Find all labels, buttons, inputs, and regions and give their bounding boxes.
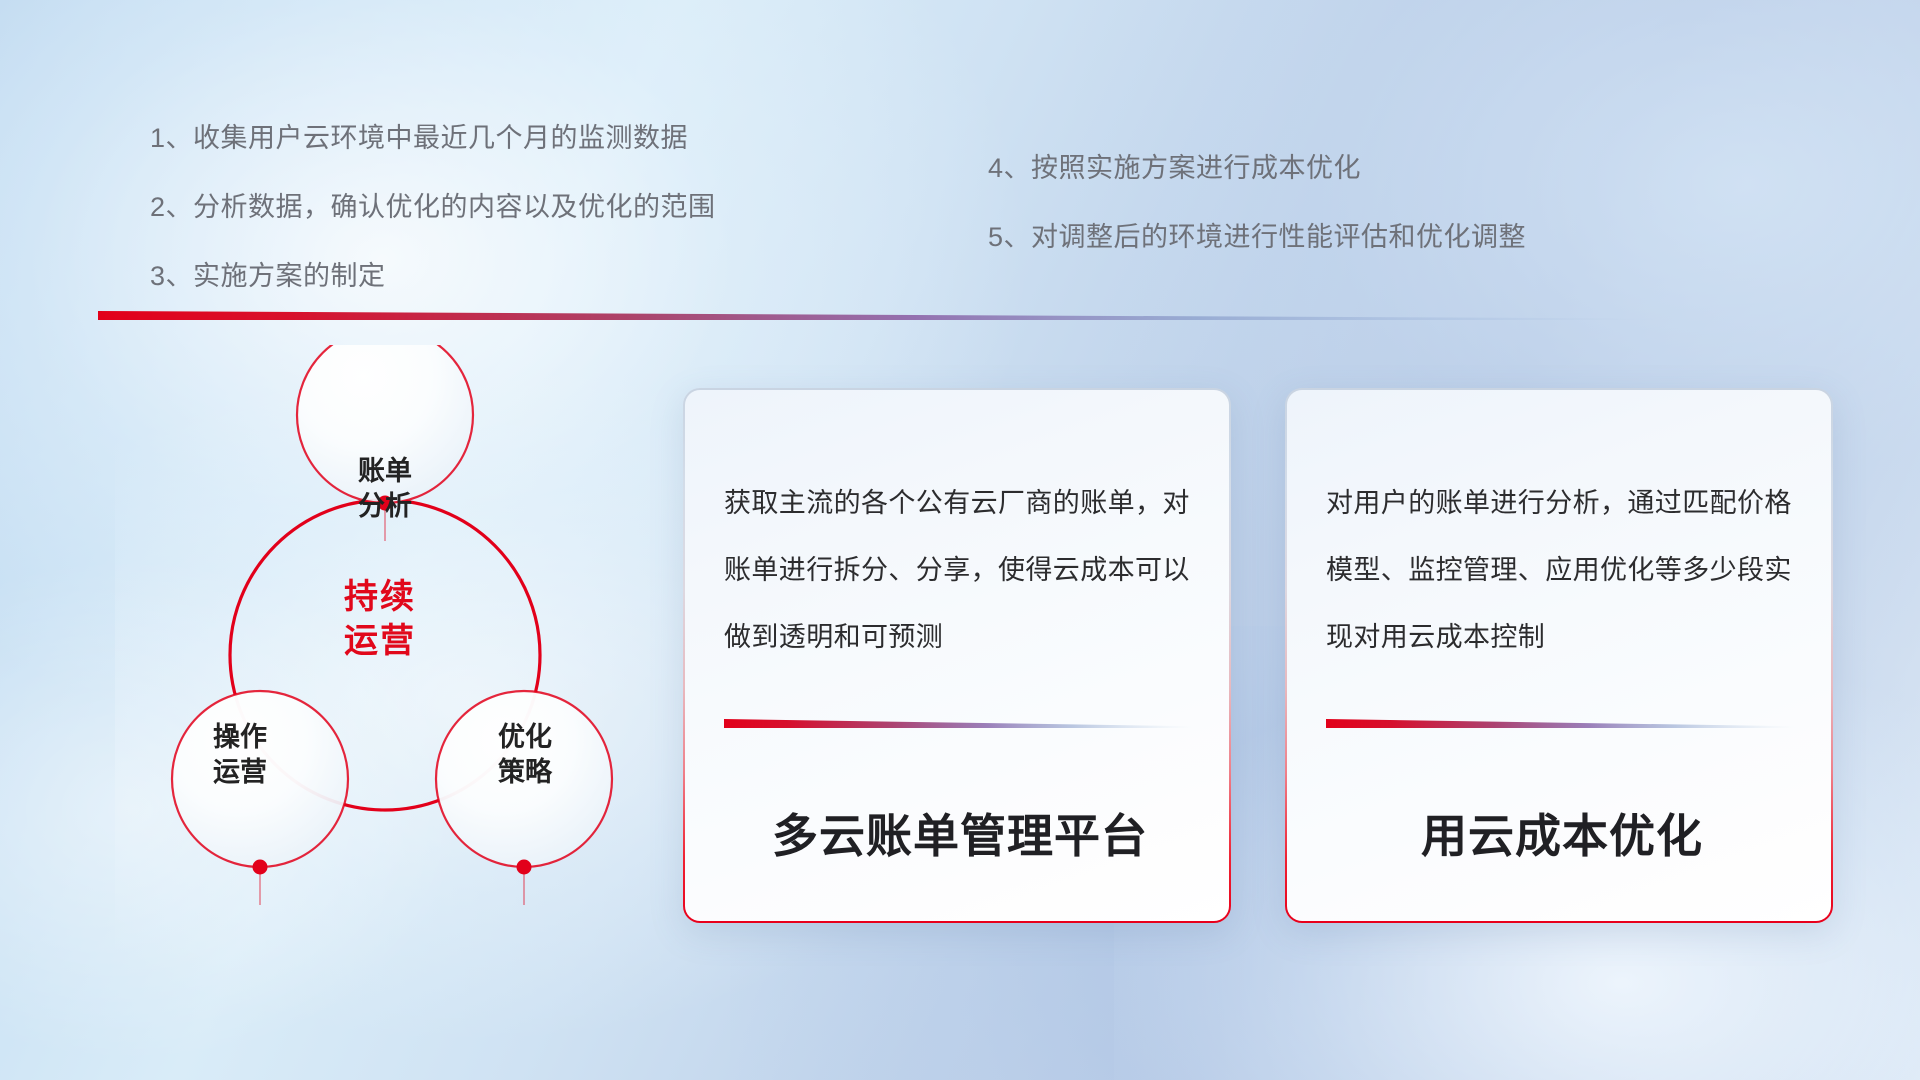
feature-card-cloud-cost-optimization[interactable]: 对用户的账单进行分析，通过匹配价格模型、监控管理、应用优化等多少段实现对用云成本…: [1285, 388, 1833, 923]
venn-label-top: 账单 分析: [315, 454, 455, 523]
venn-label-right-line1: 优化: [455, 720, 595, 755]
venn-label-left-line2: 运营: [170, 755, 310, 790]
step-number: 5、: [988, 224, 1031, 251]
card-divider: [1326, 717, 1796, 728]
step-text: 收集用户云环境中最近几个月的监测数据: [193, 125, 688, 152]
step-text: 分析数据，确认优化的内容以及优化的范围: [193, 194, 716, 221]
step-text: 按照实施方案进行成本优化: [1031, 155, 1361, 182]
venn-node-right: [517, 860, 532, 875]
venn-center-label-line2: 运营: [280, 619, 480, 663]
step-number: 3、: [150, 263, 193, 290]
venn-center-label-line1: 持续: [280, 575, 480, 619]
venn-label-right: 优化 策略: [455, 720, 595, 789]
card-body-text: 对用户的账单进行分析，通过匹配价格模型、监控管理、应用优化等多少段实现对用云成本…: [1326, 470, 1796, 671]
step-number: 2、: [150, 194, 193, 221]
venn-label-left-line1: 操作: [170, 720, 310, 755]
venn-diagram: 账单 分析 操作 运营 优化 策略 持续 运营: [100, 345, 660, 960]
step-number: 1、: [150, 125, 193, 152]
step-item-2: 2、分析数据，确认优化的内容以及优化的范围: [150, 194, 716, 221]
step-number: 4、: [988, 155, 1031, 182]
step-text: 实施方案的制定: [193, 263, 386, 290]
card-title: 多云账单管理平台: [724, 800, 1196, 866]
venn-node-left: [253, 860, 268, 875]
step-text: 对调整后的环境进行性能评估和优化调整: [1031, 224, 1526, 251]
venn-label-right-line2: 策略: [455, 755, 595, 790]
card-body-text: 获取主流的各个公有云厂商的账单，对账单进行拆分、分享，使得云成本可以做到透明和可…: [724, 470, 1194, 671]
venn-center-label: 持续 运营: [280, 575, 480, 663]
venn-label-left: 操作 运营: [170, 720, 310, 789]
section-divider: [98, 307, 1668, 318]
step-item-1: 1、收集用户云环境中最近几个月的监测数据: [150, 125, 716, 152]
steps-list-left: 1、收集用户云环境中最近几个月的监测数据 2、分析数据，确认优化的内容以及优化的…: [150, 125, 716, 332]
step-item-4: 4、按照实施方案进行成本优化: [988, 155, 1526, 182]
feature-card-multicloud-billing[interactable]: 获取主流的各个公有云厂商的账单，对账单进行拆分、分享，使得云成本可以做到透明和可…: [683, 388, 1231, 923]
step-item-5: 5、对调整后的环境进行性能评估和优化调整: [988, 224, 1526, 251]
venn-label-top-line1: 账单: [315, 454, 455, 489]
step-item-3: 3、实施方案的制定: [150, 263, 716, 290]
card-title: 用云成本优化: [1326, 800, 1798, 866]
steps-list-right: 4、按照实施方案进行成本优化 5、对调整后的环境进行性能评估和优化调整: [988, 155, 1526, 293]
card-divider: [724, 717, 1194, 728]
venn-label-top-line2: 分析: [315, 489, 455, 524]
